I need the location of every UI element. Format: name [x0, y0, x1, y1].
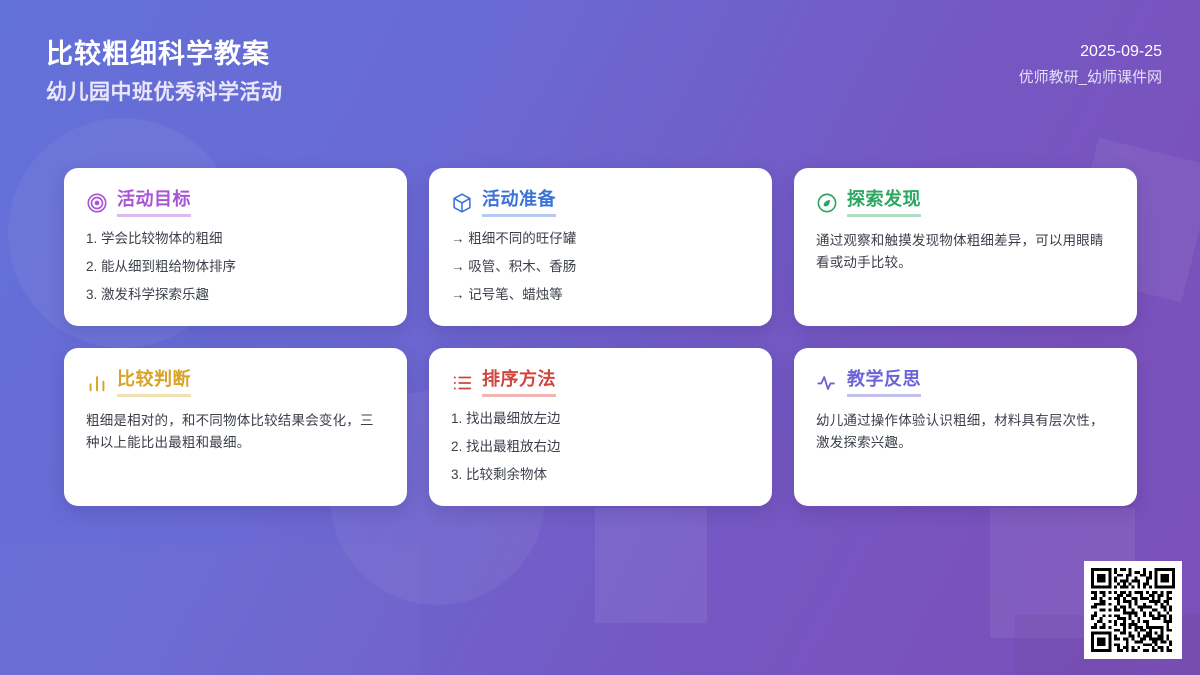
- list-icon: [451, 372, 473, 394]
- card-body-paragraph: 粗细是相对的，和不同物体比较结果会变化，三种以上能比出最粗和最细。: [86, 410, 385, 454]
- header-meta: 2025-09-25 优师教研_幼师课件网: [1019, 40, 1162, 90]
- list-item: 2. 能从细到粗给物体排序: [86, 258, 385, 275]
- card-title: 比较判断: [117, 368, 191, 397]
- list-item: 2. 找出最粗放右边: [451, 438, 750, 455]
- list-item: → 吸管、积木、香肠: [451, 258, 750, 275]
- card-body-paragraph: 幼儿通过操作体验认识粗细，材料具有层次性，激发探索兴趣。: [816, 410, 1115, 454]
- card-header: 活动准备: [451, 188, 750, 217]
- card-body-list: 1. 找出最细放左边 2. 找出最粗放右边 3. 比较剩余物体: [451, 410, 750, 483]
- card-title: 排序方法: [482, 368, 556, 397]
- qr-code-graphic: [1091, 568, 1175, 652]
- card-header: 教学反思: [816, 368, 1115, 397]
- card-title: 教学反思: [847, 368, 921, 397]
- card-body-list: → 粗细不同的旺仔罐 → 吸管、积木、香肠 → 记号笔、蜡烛等: [451, 230, 750, 303]
- date-label: 2025-09-25: [1019, 40, 1162, 64]
- decor-square-bottom-center: [595, 508, 707, 623]
- card-body-list: 1. 学会比较物体的粗细 2. 能从细到粗给物体排序 3. 激发科学探索乐趣: [86, 230, 385, 303]
- activity-pulse-icon: [816, 372, 838, 394]
- list-item: 3. 比较剩余物体: [451, 466, 750, 483]
- card-title: 活动目标: [117, 188, 191, 217]
- target-icon: [86, 192, 108, 214]
- card-header: 比较判断: [86, 368, 385, 397]
- bar-chart-icon: [86, 372, 108, 394]
- page-title: 比较粗细科学教案: [46, 36, 283, 72]
- card-header: 排序方法: [451, 368, 750, 397]
- list-item: → 粗细不同的旺仔罐: [451, 230, 750, 247]
- card-teaching-reflection[interactable]: 教学反思 幼儿通过操作体验认识粗细，材料具有层次性，激发探索兴趣。: [794, 348, 1137, 506]
- slide-root: 比较粗细科学教案 幼儿园中班优秀科学活动 2025-09-25 优师教研_幼师课…: [0, 0, 1200, 675]
- card-grid: 活动目标 1. 学会比较物体的粗细 2. 能从细到粗给物体排序 3. 激发科学探…: [64, 168, 1137, 506]
- slide-header: 比较粗细科学教案 幼儿园中班优秀科学活动 2025-09-25 优师教研_幼师课…: [0, 0, 1200, 132]
- list-item: 1. 学会比较物体的粗细: [86, 230, 385, 247]
- card-explore-discover[interactable]: 探索发现 通过观察和触摸发现物体粗细差异，可以用眼睛看或动手比较。: [794, 168, 1137, 326]
- card-ordering-method[interactable]: 排序方法 1. 找出最细放左边 2. 找出最粗放右边 3. 比较剩余物体: [429, 348, 772, 506]
- card-activity-goals[interactable]: 活动目标 1. 学会比较物体的粗细 2. 能从细到粗给物体排序 3. 激发科学探…: [64, 168, 407, 326]
- page-subtitle: 幼儿园中班优秀科学活动: [46, 78, 283, 107]
- card-header: 探索发现: [816, 188, 1115, 217]
- card-compare-judgement[interactable]: 比较判断 粗细是相对的，和不同物体比较结果会变化，三种以上能比出最粗和最细。: [64, 348, 407, 506]
- list-item: 1. 找出最细放左边: [451, 410, 750, 427]
- leaf-circle-icon: [816, 192, 838, 214]
- source-label: 优师教研_幼师课件网: [1019, 66, 1162, 90]
- list-item: 3. 激发科学探索乐趣: [86, 286, 385, 303]
- card-activity-preparation[interactable]: 活动准备 → 粗细不同的旺仔罐 → 吸管、积木、香肠 → 记号笔、蜡烛等: [429, 168, 772, 326]
- decor-band-bottom-left: [0, 545, 420, 675]
- card-body-paragraph: 通过观察和触摸发现物体粗细差异，可以用眼睛看或动手比较。: [816, 230, 1115, 274]
- list-item: → 记号笔、蜡烛等: [451, 286, 750, 303]
- cube-icon: [451, 192, 473, 214]
- qr-code[interactable]: [1084, 561, 1182, 659]
- header-titles: 比较粗细科学教案 幼儿园中班优秀科学活动: [46, 36, 283, 107]
- card-title: 探索发现: [847, 188, 921, 217]
- card-header: 活动目标: [86, 188, 385, 217]
- card-title: 活动准备: [482, 188, 556, 217]
